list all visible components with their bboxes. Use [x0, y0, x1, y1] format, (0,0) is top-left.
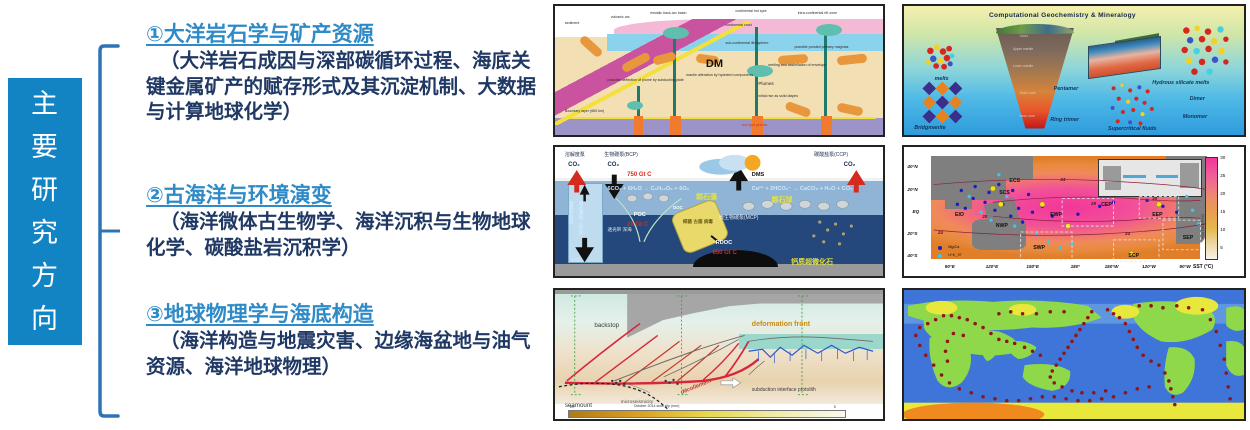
title-char-1: 主	[31, 83, 59, 126]
proxy-site-markers	[904, 147, 1244, 278]
colorbar-sst	[1205, 157, 1219, 260]
molecule-cluster-bridgmanite	[914, 81, 975, 125]
title-char-3: 研	[31, 169, 59, 212]
carbon-pump-arrows	[555, 147, 883, 278]
title-char-6: 向	[31, 298, 59, 341]
seismic-fault-lines	[555, 290, 883, 421]
title-char-2: 要	[31, 126, 59, 169]
research-direction-2-heading[interactable]: ②古海洋与环境演变	[146, 183, 542, 209]
colorbar-slow-slip	[568, 410, 846, 418]
research-direction-3[interactable]: ③地球物理学与海底构造 （海洋构造与地震灾害、边缘海盆地与油气资源、海洋地球物理…	[146, 302, 542, 380]
figure-computational-geochemistry-mineralogy: Computational Geochemistry & Mineralogy …	[902, 4, 1246, 137]
research-direction-2-body: （海洋微体古生物学、海洋沉积与生物地球化学、碳酸盐岩沉积学）	[146, 210, 542, 261]
research-direction-3-body: （海洋构造与地震灾害、边缘海盆地与油气资源、海洋地球物理）	[146, 329, 542, 380]
figure-sea-surface-temperature-map: 40°N 20°N EQ 20°S 40°S 90°E 120°E 150°E …	[902, 145, 1246, 278]
molecule-cluster-hydrous-melts	[1173, 24, 1238, 78]
figure-global-earthquake-epicenter-map	[902, 288, 1246, 421]
world-map-plate-boundaries	[904, 290, 1244, 421]
title-char-5: 方	[31, 255, 59, 298]
figure-ocean-carbon-pump-diagram: 溶解度泵 生物碳泵(BCP) 碳酸盐泵(CCP) CO₂ CO₂ CO₂ CO₂…	[553, 145, 885, 278]
title-char-4: 究	[31, 212, 59, 255]
research-direction-1-body: （大洋岩石成因与深部碳循环过程、海底关键金属矿产的赋存形式及其沉淀机制、大数据与…	[146, 49, 542, 126]
grouping-bracket	[96, 44, 122, 418]
molecule-cluster-melts	[914, 40, 968, 76]
figure-mantle-plume-subduction-diagram: volcanic arc ensialic back-arc basin con…	[553, 4, 885, 137]
research-directions-list: ①大洋岩石学与矿产资源 （大洋岩石成因与深部碳循环过程、海底关键金属矿产的赋存形…	[146, 0, 546, 430]
molecule-cluster-supercritical-fluids	[1088, 78, 1176, 130]
research-direction-1-heading[interactable]: ①大洋岩石学与矿产资源	[146, 22, 542, 48]
research-direction-1[interactable]: ①大洋岩石学与矿产资源 （大洋岩石成因与深部碳循环过程、海底关键金属矿产的赋存形…	[146, 22, 542, 126]
research-direction-2[interactable]: ②古海洋与环境演变 （海洋微体古生物学、海洋沉积与生物地球化学、碳酸盐岩沉积学）	[146, 183, 542, 261]
research-direction-3-heading[interactable]: ③地球物理学与海底构造	[146, 302, 542, 328]
figure-subduction-interface-seismic-section: backstop deformation front décollement s…	[553, 288, 885, 421]
main-research-directions-title-block: 主 要 研 究 方 向	[8, 78, 82, 345]
